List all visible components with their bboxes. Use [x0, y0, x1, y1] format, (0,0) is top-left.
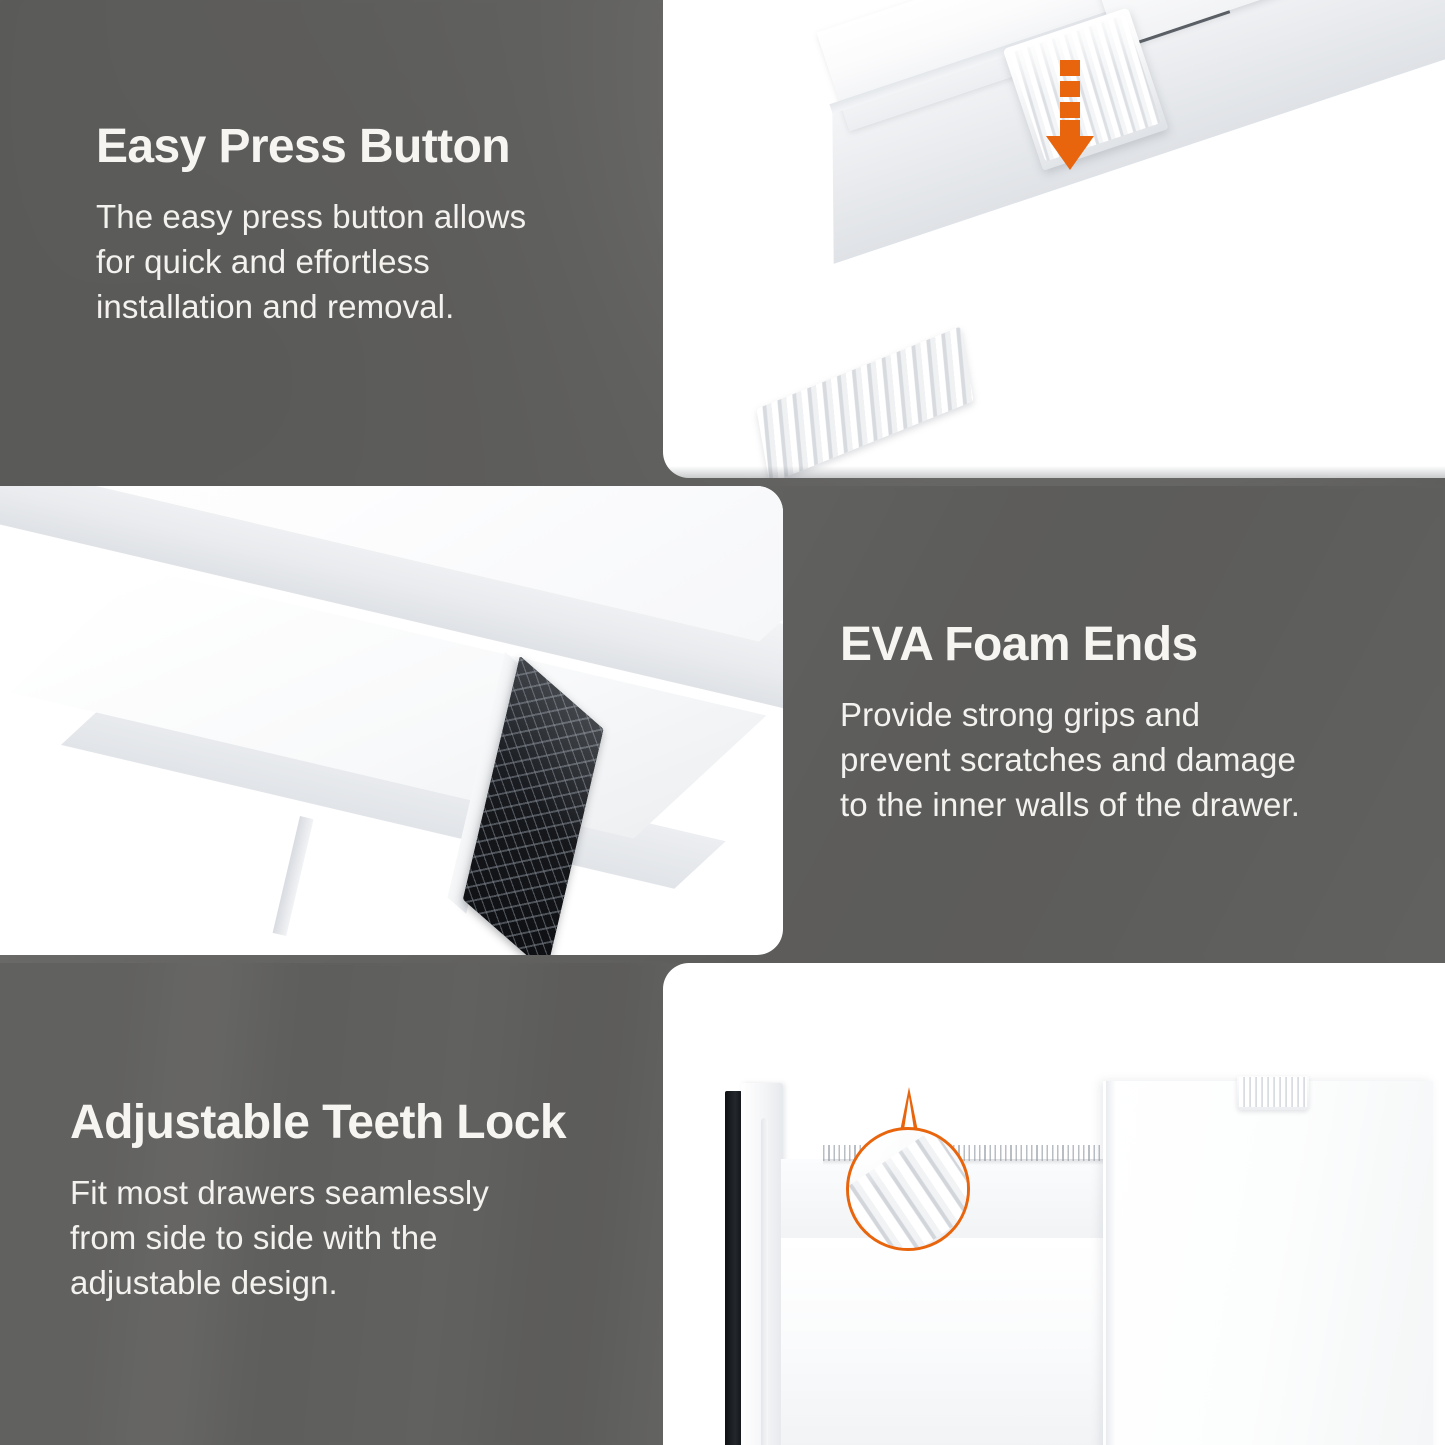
- text-block-easy-press-button: Easy Press Button The easy press button …: [96, 122, 656, 330]
- body-copy-easy-press-button: The easy press button allows for quick a…: [96, 195, 656, 330]
- down-arrow-icon: [1046, 60, 1094, 170]
- body-line: to the inner walls of the drawer.: [840, 783, 1415, 828]
- callout-highlight: [846, 1127, 913, 1186]
- art-divider-bar-with-foam: [0, 486, 783, 955]
- right-body-seam: [1106, 1081, 1116, 1445]
- body-line: adjustable design.: [70, 1261, 630, 1306]
- callout-magnifier-circle: [846, 1127, 970, 1251]
- divider-right-body: [1103, 1081, 1433, 1445]
- headline-easy-press-button: Easy Press Button: [96, 122, 656, 173]
- body-copy-adjustable-teeth-lock: Fit most drawers seamlessly from side to…: [70, 1171, 630, 1306]
- bar-telescoping-gap: [273, 816, 314, 936]
- inner-rail-middle: [781, 1238, 1111, 1445]
- left-end-cap-groove: [761, 1118, 768, 1445]
- arrow-dash-segment: [1060, 60, 1080, 76]
- text-block-adjustable-teeth-lock: Adjustable Teeth Lock Fit most drawers s…: [70, 1098, 630, 1306]
- body-line: Fit most drawers seamlessly: [70, 1171, 630, 1216]
- product-photo-eva-foam-ends: [0, 486, 783, 955]
- arrow-dash-segment: [1060, 102, 1080, 118]
- product-photo-adjustable-teeth-lock: [663, 963, 1445, 1445]
- infographic-canvas: Easy Press Button The easy press button …: [0, 0, 1445, 1445]
- arrow-head: [1046, 136, 1094, 170]
- teeth-rack-detail: [756, 327, 973, 478]
- magnifier-callout-icon: [846, 1105, 974, 1233]
- eva-foam-strip-left: [725, 1091, 742, 1445]
- text-block-eva-foam-ends: EVA Foam Ends Provide strong grips and p…: [840, 620, 1415, 828]
- product-drop-shadow: [663, 466, 1445, 478]
- body-line: prevent scratches and damage: [840, 738, 1415, 783]
- press-button-tab-ribs: [1239, 1077, 1307, 1107]
- headline-adjustable-teeth-lock: Adjustable Teeth Lock: [70, 1098, 630, 1149]
- art-telescoping-divider: [663, 963, 1445, 1445]
- press-button-tab: [1237, 1076, 1309, 1110]
- body-line: installation and removal.: [96, 285, 656, 330]
- arrow-dash-segment: [1060, 81, 1080, 97]
- body-line: for quick and effortless: [96, 240, 656, 285]
- headline-eva-foam-ends: EVA Foam Ends: [840, 620, 1415, 671]
- body-copy-eva-foam-ends: Provide strong grips and prevent scratch…: [840, 693, 1415, 828]
- body-line: Provide strong grips and: [840, 693, 1415, 738]
- body-line: The easy press button allows: [96, 195, 656, 240]
- body-line: from side to side with the: [70, 1216, 630, 1261]
